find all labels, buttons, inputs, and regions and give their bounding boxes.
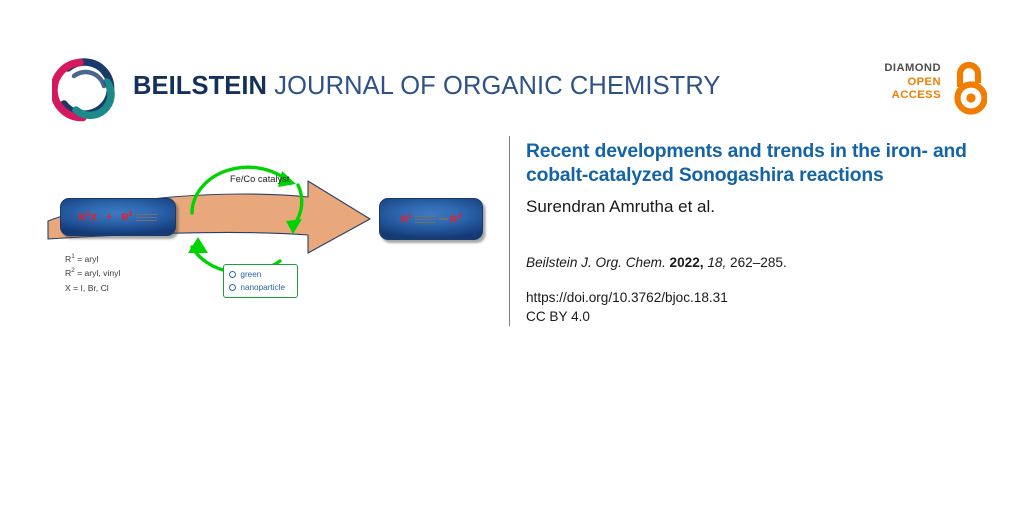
citation-pages: 262–285.	[730, 255, 787, 270]
rgroup-legend-item: X = I, Br, Cl	[65, 280, 120, 294]
masthead-title: BEILSTEIN JOURNAL OF ORGANIC CHEMISTRY	[133, 72, 721, 101]
alkyne-triple-bond-icon	[136, 214, 157, 221]
circle-bullet-icon	[229, 271, 236, 278]
citation-year: 2022,	[670, 255, 704, 270]
citation-volume: 18,	[707, 255, 726, 270]
article-doi-block: https://doi.org/10.3762/bjoc.18.31 CC BY…	[526, 289, 981, 326]
masthead: BEILSTEIN JOURNAL OF ORGANIC CHEMISTRY D…	[0, 0, 1024, 135]
plus-sign: +	[99, 212, 119, 223]
oa-line-open: OPEN	[869, 76, 941, 90]
beilstein-swirl-logo	[52, 56, 120, 124]
article-citation: Beilstein J. Org. Chem. 2022, 18, 262–28…	[526, 254, 981, 272]
column-divider	[509, 136, 510, 326]
reactants-formula: R1X + R2	[78, 211, 157, 223]
citation-journal: Beilstein J. Org. Chem.	[526, 255, 666, 270]
diamond-open-access-badge: DIAMOND OPEN ACCESS	[869, 62, 987, 118]
single-bond-icon	[439, 218, 448, 219]
catalyst-label: Fe/Co catalyst	[230, 174, 289, 184]
oa-line-access: ACCESS	[869, 89, 941, 103]
feature-label: green	[240, 268, 261, 281]
rgroup-legend-item: R2 = aryl, vinyl	[65, 265, 120, 279]
graphical-abstract: R1X + R2 R1 R2 Fe/Co catalyst R1 = aryl …	[40, 135, 500, 330]
open-access-wordmark: DIAMOND OPEN ACCESS	[869, 62, 941, 103]
reactant-r2: R2	[121, 211, 133, 223]
rgroup-legend: R1 = aryl R2 = aryl, vinyl X = I, Br, Cl	[65, 251, 120, 294]
product-r2: R2	[450, 213, 462, 225]
article-meta: Recent developments and trends in the ir…	[526, 140, 981, 326]
feature-item: green	[229, 268, 292, 281]
feature-label: nanoparticle	[240, 281, 285, 294]
product-formula: R1 R2	[401, 213, 462, 225]
product-r1: R1	[401, 213, 413, 225]
doi-link[interactable]: https://doi.org/10.3762/bjoc.18.31	[526, 289, 981, 308]
oa-line-diamond: DIAMOND	[869, 62, 941, 76]
feature-highlight-box: green nanoparticle	[223, 264, 298, 298]
feature-item: nanoparticle	[229, 281, 292, 294]
article-title: Recent developments and trends in the ir…	[526, 140, 981, 187]
article-authors: Surendran Amrutha et al.	[526, 197, 981, 217]
product-box: R1 R2	[379, 198, 483, 240]
reactant-r1: R1X	[78, 211, 97, 223]
license-label: CC BY 4.0	[526, 308, 981, 327]
masthead-subtitle: JOURNAL OF ORGANIC CHEMISTRY	[267, 72, 720, 100]
alkyne-triple-bond-icon	[415, 216, 436, 223]
circle-bullet-icon	[229, 284, 236, 291]
open-lock-icon	[949, 59, 987, 115]
rgroup-legend-item: R1 = aryl	[65, 251, 120, 265]
reactants-box: R1X + R2	[60, 198, 176, 236]
masthead-brand: BEILSTEIN	[133, 72, 267, 100]
